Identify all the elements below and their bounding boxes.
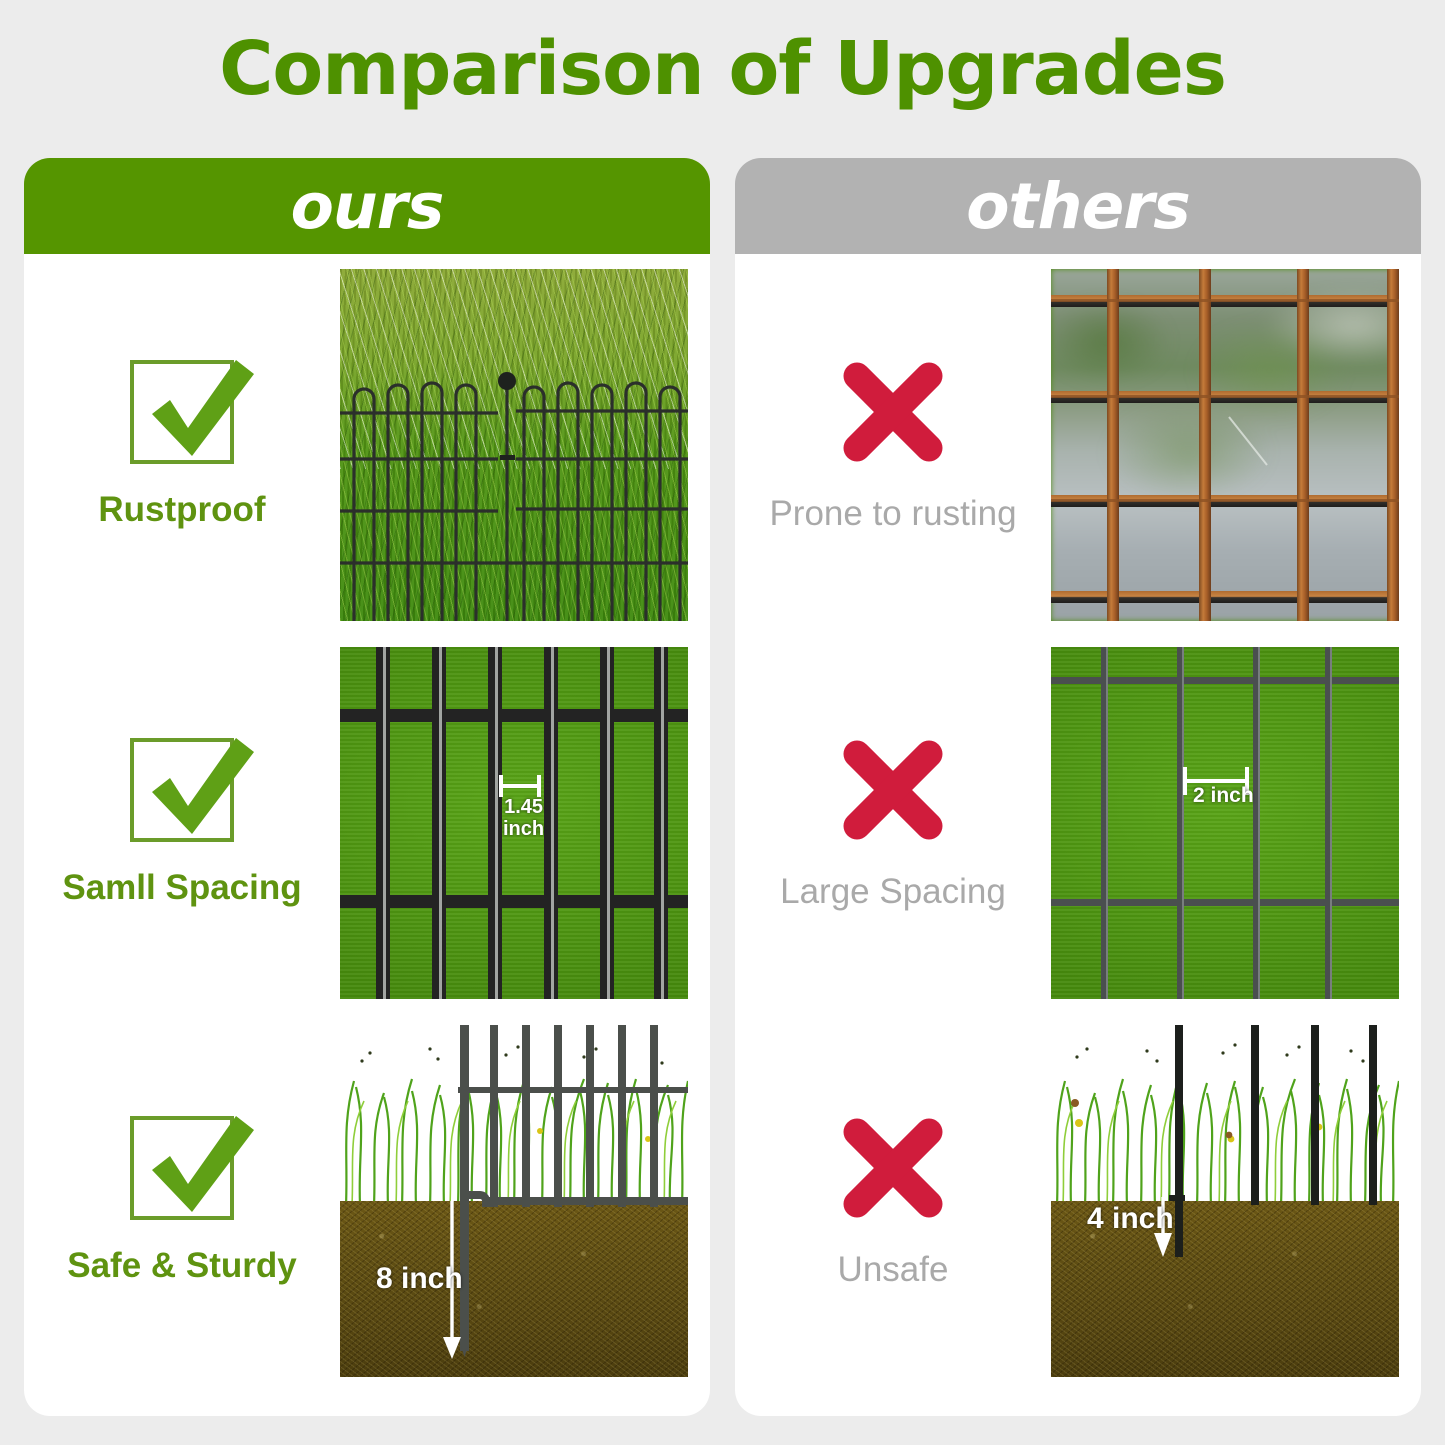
image-rainy-hoop-fence: [340, 269, 688, 621]
feature-image-cell: 4 inch: [1051, 1025, 1421, 1377]
column-body-ours: Rustproof: [24, 254, 710, 1416]
feature-label: Safe & Sturdy: [67, 1246, 297, 1286]
image-shallow-stake: 4 inch: [1051, 1025, 1399, 1377]
checkmark-glyph: [136, 1108, 256, 1228]
check-icon: [130, 1116, 234, 1220]
column-ours: ours Rustproof: [24, 158, 710, 1416]
wide-fence-grid: [1051, 647, 1399, 999]
page-title: Comparison of Upgrades: [0, 26, 1445, 112]
feature-label: Large Spacing: [780, 872, 1006, 912]
column-header-others: others: [735, 158, 1421, 254]
ground-scene: [340, 1025, 688, 1377]
feature-image-cell: 2 inch: [1051, 647, 1421, 999]
column-header-ours: ours: [24, 158, 710, 254]
feature-label: Samll Spacing: [62, 868, 301, 908]
feature-label: Prone to rusting: [769, 494, 1016, 534]
check-icon: [130, 360, 234, 464]
dimension-label: 1.45 inch: [503, 797, 544, 840]
feature-label-cell: Samll Spacing: [24, 738, 340, 908]
dimension-label: 8 inch: [376, 1263, 463, 1295]
rusty-wire-grid: [1051, 269, 1399, 621]
feature-label: Unsafe: [838, 1250, 949, 1290]
x-icon: [837, 356, 949, 468]
feature-row: Unsafe: [735, 1014, 1421, 1388]
feature-row: Samll Spacing: [24, 636, 710, 1010]
feature-label-cell: Prone to rusting: [735, 356, 1051, 534]
column-body-others: Prone to rusting: [735, 254, 1421, 1416]
feature-label: Rustproof: [98, 490, 265, 530]
feature-image-cell: [340, 269, 710, 621]
feature-row: Safe & Sturdy: [24, 1014, 710, 1388]
checkmark-glyph: [136, 352, 256, 472]
feature-label-cell: Large Spacing: [735, 734, 1051, 912]
x-icon: [837, 1112, 949, 1224]
dimension-label: 2 inch: [1193, 785, 1254, 808]
fence-stakes-graphic: [1051, 1025, 1399, 1377]
image-narrow-spacing: 1.45 inch: [340, 647, 688, 999]
x-icon: [837, 734, 949, 846]
ground-scene: [1051, 1025, 1399, 1377]
checkmark-glyph: [136, 730, 256, 850]
comparison-infographic: Comparison of Upgrades ours Rustproof: [0, 0, 1445, 1445]
feature-row: Prone to rusting: [735, 258, 1421, 632]
feature-label-cell: Unsafe: [735, 1112, 1051, 1290]
feature-image-cell: [1051, 269, 1421, 621]
image-wide-spacing: 2 inch: [1051, 647, 1399, 999]
column-others: others Prone to rusting: [735, 158, 1421, 1416]
feature-label-cell: Rustproof: [24, 360, 340, 530]
hoop-fence-graphic: [340, 269, 688, 621]
feature-image-cell: 1.45 inch: [340, 647, 710, 999]
fence-stakes-graphic: [340, 1025, 688, 1377]
check-icon: [130, 738, 234, 842]
feature-label-cell: Safe & Sturdy: [24, 1116, 340, 1286]
image-rusty-mesh: [1051, 269, 1399, 621]
dimension-label: 4 inch: [1087, 1203, 1174, 1235]
image-deep-stake: 8 inch: [340, 1025, 688, 1377]
feature-image-cell: 8 inch: [340, 1025, 710, 1377]
feature-row: Rustproof: [24, 258, 710, 632]
feature-row: Large Spacing: [735, 636, 1421, 1010]
